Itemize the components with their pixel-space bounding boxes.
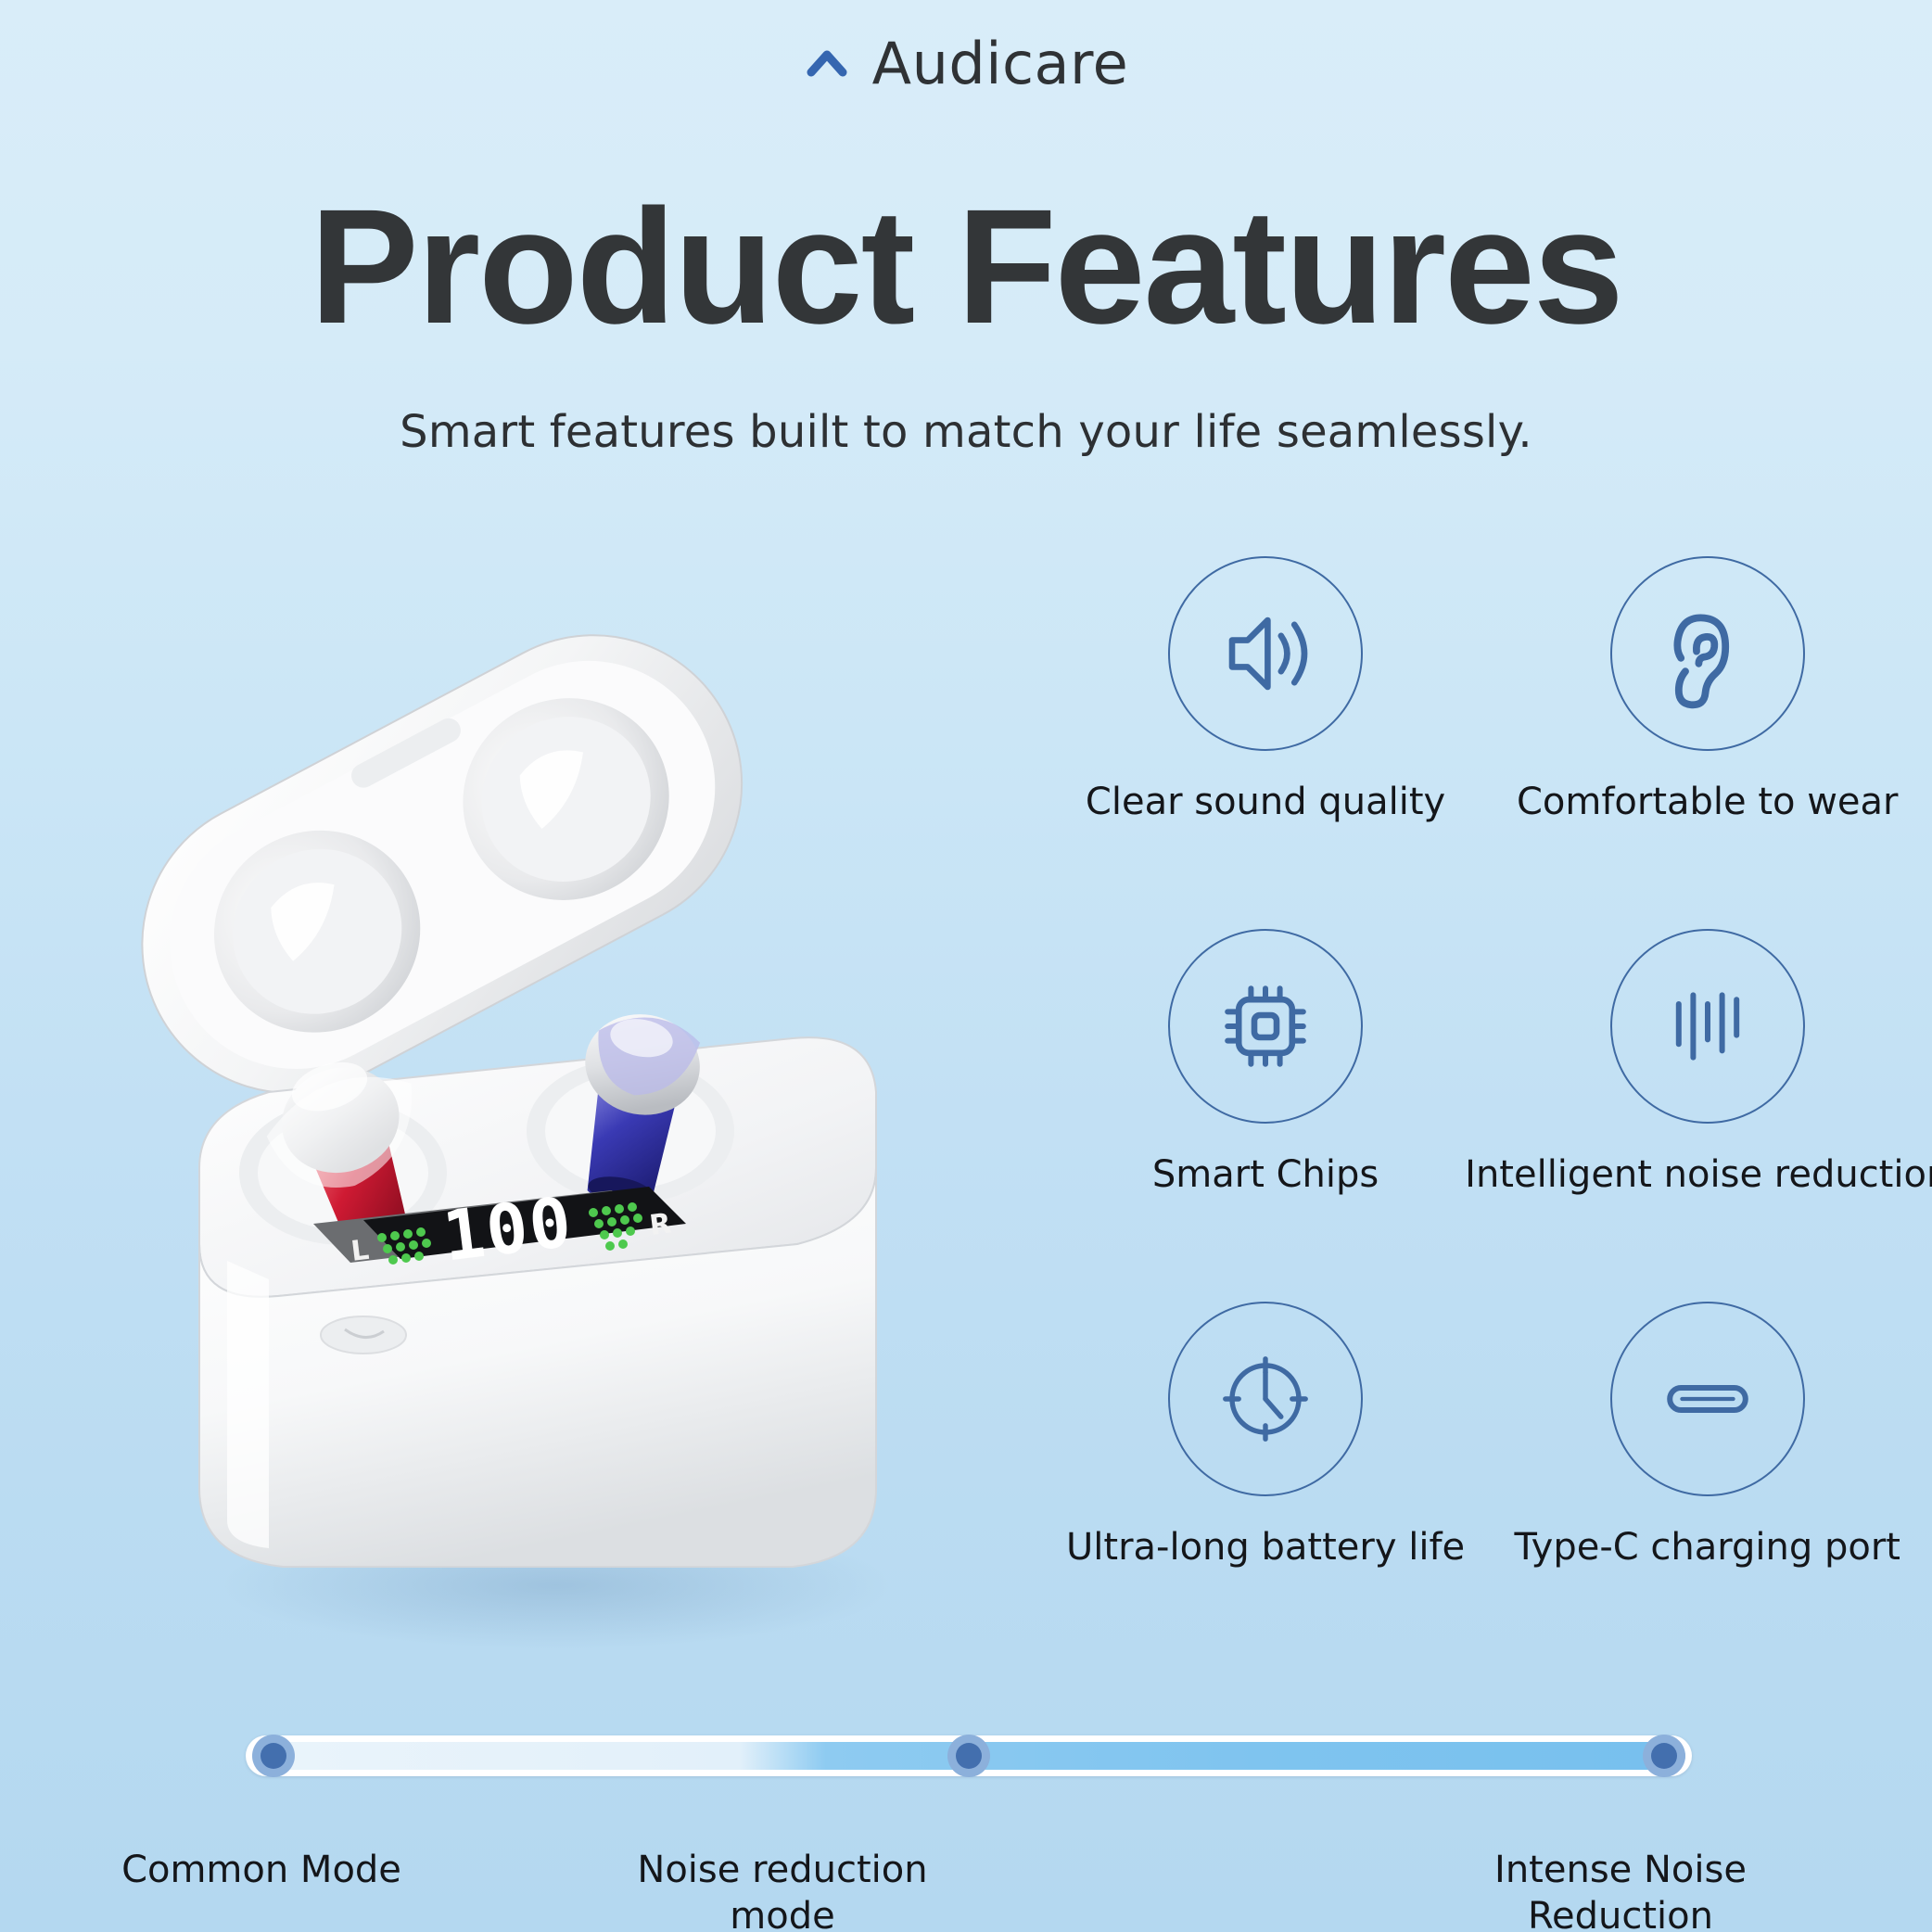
chevron-up-icon [804, 41, 850, 87]
feature-type-c-charging-port[interactable]: Type-C charging port [1465, 1302, 1932, 1569]
speaker-sound-icon [1210, 598, 1321, 709]
feature-comfortable-to-wear[interactable]: Comfortable to wear [1465, 556, 1932, 823]
feature-label: Clear sound quality [1086, 781, 1445, 823]
feature-icon-circle [1610, 556, 1805, 751]
feature-icon-circle [1610, 929, 1805, 1124]
slider-label-common-mode: Common Mode [113, 1847, 410, 1893]
feature-icon-circle [1610, 1302, 1805, 1496]
waveform-icon [1652, 971, 1763, 1082]
feature-label: Comfortable to wear [1517, 781, 1899, 823]
mode-slider[interactable] [246, 1735, 1692, 1776]
page-title: Product Features [0, 185, 1932, 349]
chip-icon [1210, 971, 1321, 1082]
led-battery-value: 100 [439, 1182, 577, 1277]
slider-label-line1: Intense Noise Reduction [1494, 1849, 1747, 1932]
feature-label: Smart Chips [1152, 1153, 1379, 1196]
slider-stop-noise-reduction-mode[interactable] [947, 1735, 990, 1777]
product-image: L 100 R [37, 519, 1075, 1678]
feature-icon-circle [1168, 1302, 1363, 1496]
infographic-page: Audicare Product Features Smart features… [0, 0, 1932, 1932]
feature-intelligent-noise-reduction[interactable]: Intelligent noise reduction [1465, 929, 1932, 1196]
usb-type-c-port-icon [1652, 1343, 1763, 1455]
slider-label-noise-reduction-mode: Noise reduction mode [634, 1847, 931, 1932]
led-right-label: R [648, 1207, 673, 1242]
brand-name: Audicare [872, 35, 1129, 93]
feature-icon-circle [1168, 556, 1363, 751]
page-subtitle: Smart features built to match your life … [0, 406, 1932, 458]
slider-label-line2: mode [730, 1895, 834, 1932]
feature-label: Type-C charging port [1514, 1526, 1900, 1569]
feature-grid: Clear sound quality Comfortable to wear [1066, 556, 1882, 1569]
clock-icon [1210, 1343, 1321, 1455]
feature-clear-sound-quality[interactable]: Clear sound quality [1066, 556, 1465, 823]
feature-ultra-long-battery-life[interactable]: Ultra-long battery life [1066, 1302, 1465, 1569]
slider-stop-intense-noise-reduction[interactable] [1643, 1735, 1685, 1777]
ear-icon [1652, 598, 1763, 709]
brand-logo: Audicare [0, 35, 1932, 93]
feature-label: Ultra-long battery life [1066, 1526, 1465, 1569]
feature-smart-chips[interactable]: Smart Chips [1066, 929, 1465, 1196]
slider-label-line1: Noise reduction [637, 1849, 927, 1891]
slider-stop-common-mode[interactable] [252, 1735, 295, 1777]
slider-track[interactable] [246, 1735, 1692, 1776]
feature-icon-circle [1168, 929, 1363, 1124]
feature-label: Intelligent noise reduction [1465, 1153, 1932, 1196]
slider-label-intense-noise-reduction-mode: Intense Noise Reduction mode [1426, 1847, 1815, 1932]
earbuds-case-illustration: L 100 R [37, 519, 1075, 1678]
